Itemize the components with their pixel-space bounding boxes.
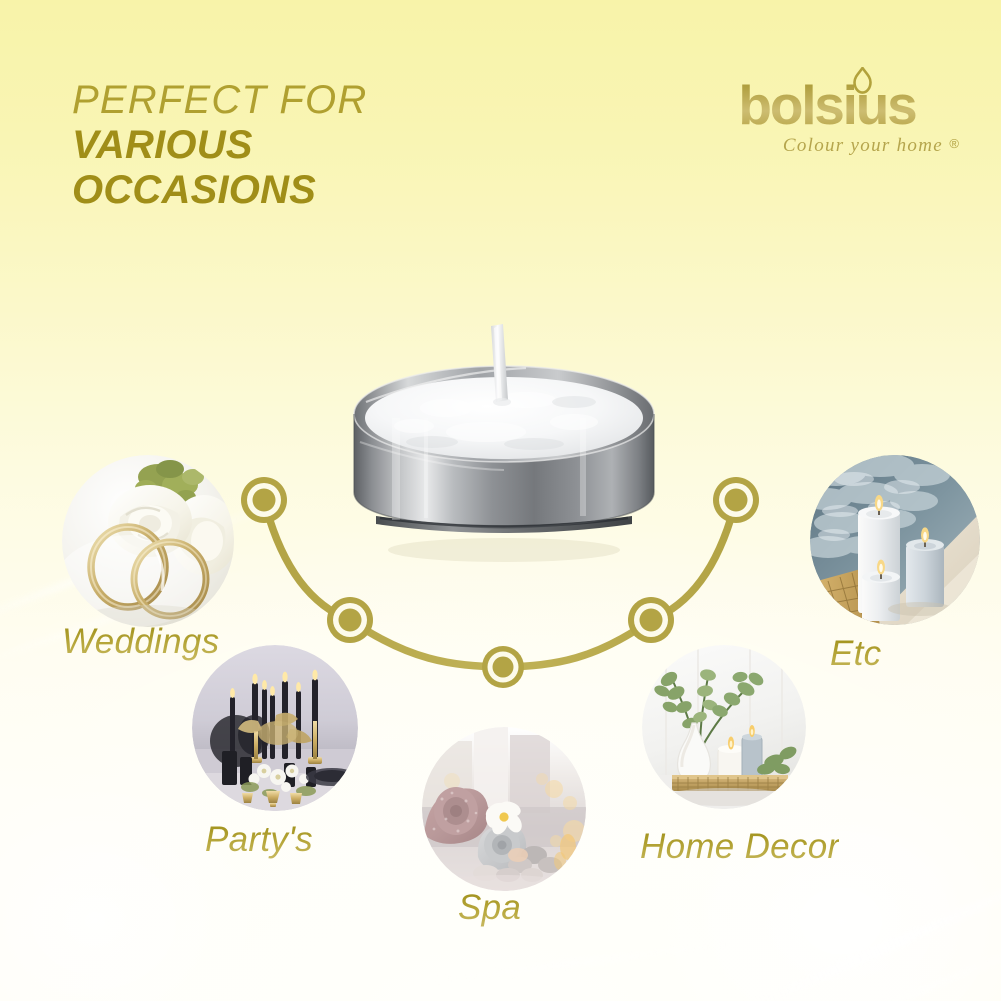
occasion-photo-home-decor [642,645,806,809]
marketing-image-canvas: PERFECT FOR VARIOUS OCCASIONS bolsius ® … [0,0,1001,1001]
registered-trademark-icon: ® [949,136,959,151]
arc-node [327,597,373,643]
light-streak [771,924,1001,1001]
brand-logo: bolsius ® Colour your home [705,78,949,157]
occasion-label-home-decor: Home Decor [640,827,839,867]
headline-block: PERFECT FOR VARIOUS OCCASIONS [72,80,502,210]
occasion-label-spa: Spa [458,888,521,928]
occasion-photo-weddings [62,455,234,627]
occasion-label-etc: Etc [830,634,881,674]
occasion-label-partys: Party's [205,820,313,860]
brand-wordmark: bolsius [705,78,949,133]
brand-tagline: Colour your home [705,135,949,157]
occasion-photo-partys [192,645,358,811]
occasion-label-weddings: Weddings [62,622,219,662]
arc-node [628,597,674,643]
product-tealight-candle [336,310,666,565]
arc-node [482,646,524,688]
arc-node [241,477,287,523]
arc-node [713,477,759,523]
headline-line-3: OCCASIONS [72,170,502,211]
occasion-photo-etc [810,455,980,625]
flame-diamond-icon [853,67,872,94]
headline-line-1: PERFECT FOR [72,80,502,121]
occasion-photo-spa [422,727,586,891]
light-streak [431,942,729,984]
headline-line-2: VARIOUS [72,125,502,166]
